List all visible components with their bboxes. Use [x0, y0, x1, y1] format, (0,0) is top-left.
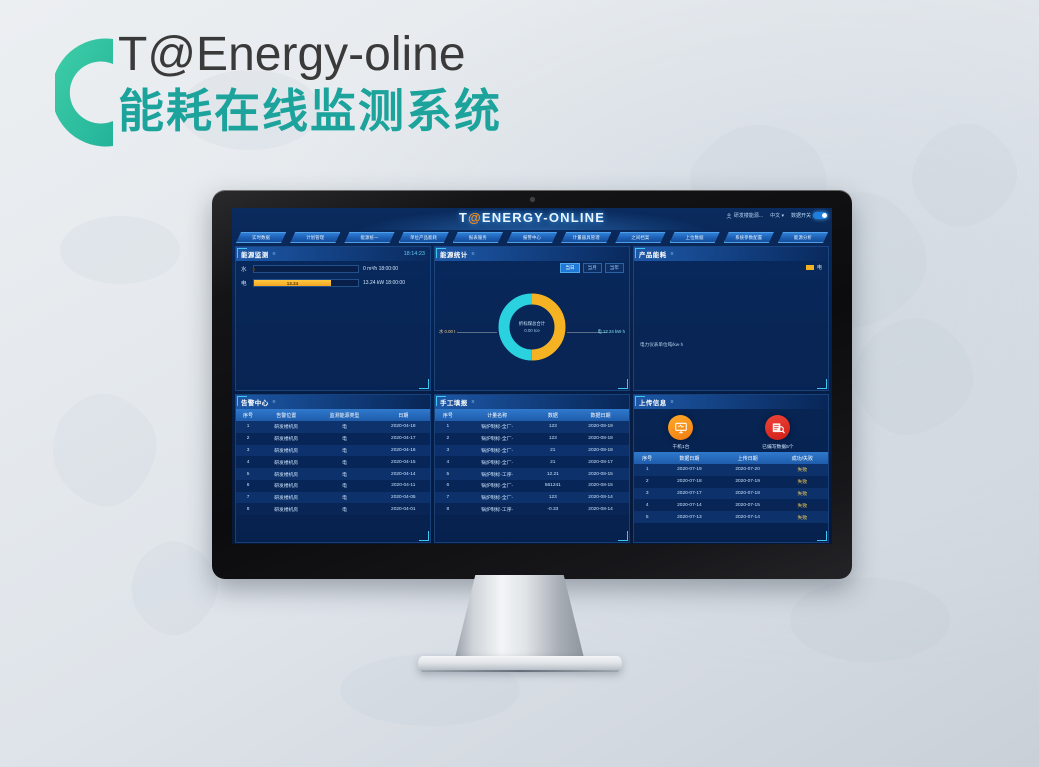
table-row[interactable]: 6锅炉制标-全厂-5612412020-08-15 [435, 480, 629, 492]
table-cell: 8 [236, 503, 260, 515]
table-cell: 研发楼机房 [260, 456, 312, 468]
donut-center-line1: 折标煤总合计 [497, 321, 567, 327]
table-cell: 2020-07-20 [719, 464, 777, 476]
nav-item-5[interactable]: 报警中心 [507, 232, 557, 243]
language-label: 中文 ▾ [770, 212, 784, 219]
app-title-prefix: T [459, 210, 468, 225]
table-cell: 2020-04-05 [377, 492, 430, 504]
panel-title: 手工填报 [440, 397, 468, 407]
monitor: T@ENERGY-ONLINE 研发楼能源... 中文 ▾ 数据开关 [212, 190, 852, 579]
manual-table: 序号计量名称数据数据日期 1锅炉制标-全厂-1232020-08-192锅炉制标… [435, 409, 629, 515]
monitor-stand-base [418, 656, 622, 672]
table-body: 12020-07-192020-07-20失败22020-07-182020-0… [634, 464, 828, 523]
table-body: 1研发楼机房电2020-04-182研发楼机房电2020-04-173研发楼机房… [236, 421, 430, 515]
legend-label-electric: 电 [817, 264, 822, 271]
dashboard-column-center: 能源统计 ≡ 当日 当月 当年 折标煤总合计 [434, 246, 630, 543]
table-row[interactable]: 1研发楼机房电2020-04-18 [236, 421, 430, 433]
data-toggle-group[interactable]: 数据开关 [791, 212, 828, 219]
table-cell: 研发楼机房 [260, 480, 312, 492]
realtime-bar-track: 13.24 [253, 279, 359, 287]
product-legend: 电 [634, 261, 828, 271]
table-cell: 锅炉制标-全厂- [461, 421, 534, 433]
panel-title: 告警中心 [241, 397, 269, 407]
table-row[interactable]: 1锅炉制标-全厂-1232020-08-19 [435, 421, 629, 433]
table-cell: 电 [312, 433, 376, 445]
column-header: 数据 [534, 409, 573, 421]
app-title-at: @ [468, 210, 482, 225]
panel-more-icon[interactable]: ≡ [472, 251, 475, 257]
panel-alarm-center: 告警中心 ≡ 序号告警位置监测能源类型日期 1研发楼机房电2020-04-182… [235, 394, 431, 543]
table-cell: 2020-07-14 [660, 499, 718, 511]
table-cell: 2020-04-14 [377, 468, 430, 480]
panel-more-icon[interactable]: ≡ [472, 399, 475, 405]
table-cell: 研发楼机房 [260, 421, 312, 433]
column-header: 计量名称 [461, 409, 534, 421]
table-cell: 123 [534, 492, 573, 504]
realtime-value-time: 18:00:00 [386, 280, 405, 286]
nav-item-6[interactable]: 计量器具管理 [561, 232, 611, 243]
realtime-label: 电 [241, 279, 249, 287]
table-cell: 21 [534, 445, 573, 457]
language-selector[interactable]: 中文 ▾ [770, 212, 784, 219]
app-title-suffix: ENERGY-ONLINE [482, 210, 605, 225]
realtime-label: 水 [241, 265, 249, 273]
table-cell: 2020-08-14 [572, 503, 629, 515]
table-cell: 电 [312, 503, 376, 515]
realtime-value-number: 13.24 kW [363, 280, 384, 286]
panel-title: 产品能耗 [639, 249, 667, 259]
table-cell: 2020-04-11 [377, 480, 430, 492]
donut-label-water: 水 0.00 t [439, 329, 455, 335]
table-cell: 失败 [777, 488, 828, 500]
panel-header: 告警中心 ≡ [236, 395, 430, 409]
dashboard-column-right: 产品能耗 ≡ 电 电力仪表单位吨/kw·h 上传信息 ≡ [633, 246, 829, 543]
panel-more-icon[interactable]: ≡ [671, 399, 674, 405]
panel-more-icon[interactable]: ≡ [671, 251, 674, 257]
upload-stat-label: 已编写数据5个 [762, 443, 793, 450]
table-cell: 锅炉制标-全厂- [461, 445, 534, 457]
column-header: 序号 [634, 452, 660, 464]
table-cell: 2020-07-13 [660, 511, 718, 523]
donut-leader-left [457, 332, 497, 333]
table-cell: 2020-08-15 [572, 480, 629, 492]
table-cell: 1 [435, 421, 461, 433]
table-header-row: 序号计量名称数据数据日期 [435, 409, 629, 421]
table-cell: 1 [236, 421, 260, 433]
panel-more-icon[interactable]: ≡ [273, 399, 276, 405]
table-cell: 失败 [777, 511, 828, 523]
screen: T@ENERGY-ONLINE 研发楼能源... 中文 ▾ 数据开关 [232, 208, 832, 544]
c-mark-logo [55, 35, 117, 150]
table-cell: 8 [435, 503, 461, 515]
realtime-bar-fill: 13.24 [254, 280, 331, 286]
table-cell: 锅炉制标-全厂- [461, 456, 534, 468]
column-header: 序号 [236, 409, 260, 421]
alarm-table: 序号告警位置监测能源类型日期 1研发楼机房电2020-04-182研发楼机房电2… [236, 409, 430, 515]
donut-label-electric: 电 13.24 kW·h [598, 329, 625, 335]
table-cell: 1 [634, 464, 660, 476]
table-cell: 2020-08-18 [572, 445, 629, 457]
table-body: 1锅炉制标-全厂-1232020-08-192锅炉制标-全厂-1232020-0… [435, 421, 629, 515]
main-nav: 实时数据 计划管理 能源统一 单位产品能耗 报表服务 报警中心 计量器具管理 之… [232, 232, 832, 243]
panel-product-energy: 产品能耗 ≡ 电 电力仪表单位吨/kw·h [633, 246, 829, 391]
table-cell: 7 [236, 492, 260, 504]
realtime-timestamp: 18:14:23 [404, 251, 425, 257]
nav-item-9[interactable]: 系统参数配置 [724, 232, 774, 243]
table-cell: 2020-04-01 [377, 503, 430, 515]
table-row[interactable]: 6研发楼机房电2020-04-11 [236, 480, 430, 492]
monitor-stand-neck [455, 575, 585, 660]
nav-item-8[interactable]: 上位数据 [670, 232, 720, 243]
realtime-row-electric: 电 13.24 13.24 kW 18:00:00 [241, 279, 425, 287]
table-cell: 电 [312, 445, 376, 457]
dashboard-grid: 能源监测 ≡ 18:14:23 水 0 0 m³/h 18:00:0 [232, 243, 832, 544]
table-cell: 2020-07-17 [660, 488, 718, 500]
table-cell: 锅炉制标-全厂- [461, 480, 534, 492]
table-cell: 5 [236, 468, 260, 480]
upload-stat-label: 干机1台 [668, 443, 693, 450]
table-cell: 5 [435, 468, 461, 480]
upload-icon-row: 干机1台 已编写数据5个 [634, 409, 828, 452]
table-cell: 3 [634, 488, 660, 500]
tab-month[interactable]: 当月 [583, 263, 602, 273]
panel-header: 上传信息 ≡ [634, 395, 828, 409]
table-cell: 2020-04-15 [377, 456, 430, 468]
column-header: 数据日期 [572, 409, 629, 421]
panel-header: 能源统计 ≡ [435, 247, 629, 261]
column-header: 日期 [377, 409, 430, 421]
tab-day[interactable]: 当日 [560, 263, 579, 273]
panel-upload-info: 上传信息 ≡ 干机1台 [633, 394, 829, 543]
document-search-icon [765, 415, 790, 440]
table-cell: -0.33 [534, 503, 573, 515]
table-cell: 2020-04-16 [377, 445, 430, 457]
tab-year[interactable]: 当年 [605, 263, 624, 273]
column-header: 监测能源类型 [312, 409, 376, 421]
panel-title: 能源监测 [241, 249, 269, 259]
alarm-table-wrap[interactable]: 序号告警位置监测能源类型日期 1研发楼机房电2020-04-182研发楼机房电2… [236, 409, 430, 533]
table-cell: 2020-08-15 [572, 468, 629, 480]
nav-item-3[interactable]: 单位产品能耗 [399, 232, 449, 243]
table-row[interactable]: 8锅炉制标-工序--0.332020-08-14 [435, 503, 629, 515]
poster-title-cn: 能耗在线监测系统 [118, 81, 502, 141]
table-cell: 电 [312, 492, 376, 504]
table-row[interactable]: 2锅炉制标-全厂-1232020-08-18 [435, 433, 629, 445]
upload-stat-devices[interactable]: 干机1台 [668, 415, 693, 450]
table-cell: 123 [534, 433, 573, 445]
donut-chart-area: 折标煤总合计 0.00 tce 水 0.00 t 电 13.24 kW·h [435, 273, 629, 381]
table-row[interactable]: 7研发楼机房电2020-04-05 [236, 492, 430, 504]
panel-header: 手工填报 ≡ [435, 395, 629, 409]
table-cell: 失败 [777, 499, 828, 511]
toggle-label: 数据开关 [791, 212, 811, 219]
panel-energy-statistics: 能源统计 ≡ 当日 当月 当年 折标煤总合计 [434, 246, 630, 391]
table-cell: 2020-07-14 [719, 511, 777, 523]
table-cell: 2020-08-18 [572, 433, 629, 445]
table-cell: 锅炉制标-全厂- [461, 492, 534, 504]
realtime-value: 13.24 kW 18:00:00 [363, 280, 425, 286]
panel-body: 水 0 0 m³/h 18:00:00 电 [236, 261, 430, 297]
table-cell: 2 [634, 476, 660, 488]
table-row[interactable]: 5锅炉制标-工序-12.212020-08-15 [435, 468, 629, 480]
table-cell: 2020-04-17 [377, 433, 430, 445]
nav-item-7[interactable]: 之间档案 [615, 232, 665, 243]
table-cell: 2020-08-14 [572, 492, 629, 504]
poster-title-en: T@Energy-oline [118, 25, 502, 85]
table-row[interactable]: 32020-07-172020-07-18失败 [634, 488, 828, 500]
data-toggle-switch[interactable] [813, 212, 828, 219]
table-cell: 电 [312, 456, 376, 468]
table-cell: 2020-07-19 [660, 464, 718, 476]
upload-stat-records[interactable]: 已编写数据5个 [762, 415, 793, 450]
panel-header: 能源监测 ≡ 18:14:23 [236, 247, 430, 261]
table-row[interactable]: 22020-07-182020-07-19失败 [634, 476, 828, 488]
table-cell: 2020-04-18 [377, 421, 430, 433]
table-cell: 2020-07-19 [719, 476, 777, 488]
nav-item-1[interactable]: 计划管理 [290, 232, 340, 243]
table-header-row: 序号告警位置监测能源类型日期 [236, 409, 430, 421]
manual-table-wrap[interactable]: 序号计量名称数据数据日期 1锅炉制标-全厂-1232020-08-192锅炉制标… [435, 409, 629, 533]
user-label: 研发楼能源... [734, 212, 763, 219]
user-menu[interactable]: 研发楼能源... [726, 212, 763, 219]
stats-tabs: 当日 当月 当年 [435, 261, 629, 273]
table-cell: 4 [236, 456, 260, 468]
panel-more-icon[interactable]: ≡ [273, 251, 276, 257]
table-cell: 2020-08-17 [572, 456, 629, 468]
table-cell: 锅炉制标-工序- [461, 468, 534, 480]
table-cell: 失败 [777, 464, 828, 476]
product-axis-note: 电力仪表单位吨/kw·h [640, 342, 683, 348]
table-cell: 研发楼机房 [260, 433, 312, 445]
table-cell: 电 [312, 468, 376, 480]
table-cell: 2020-07-15 [719, 499, 777, 511]
webcam-icon [530, 197, 535, 202]
table-row[interactable]: 52020-07-132020-07-14失败 [634, 511, 828, 523]
table-cell: 电 [312, 421, 376, 433]
table-cell: 4 [634, 499, 660, 511]
nav-item-4[interactable]: 报表服务 [453, 232, 503, 243]
donut-center-line2: 0.00 tce [497, 328, 567, 333]
panel-realtime-monitoring: 能源监测 ≡ 18:14:23 水 0 0 m³/h 18:00:0 [235, 246, 431, 391]
table-cell: 2 [236, 433, 260, 445]
table-cell: 电 [312, 480, 376, 492]
table-row[interactable]: 4锅炉制标-全厂-212020-08-17 [435, 456, 629, 468]
realtime-value-time: 18:00:00 [379, 266, 398, 272]
table-cell: 2020-07-18 [719, 488, 777, 500]
legend-swatch-electric [806, 265, 814, 270]
table-cell: 6 [236, 480, 260, 492]
upload-table: 序号数据日期上传日期成功/失败 12020-07-192020-07-20失败2… [634, 452, 828, 523]
header-right: 研发楼能源... 中文 ▾ 数据开关 [726, 212, 828, 219]
realtime-bar-track: 0 [253, 265, 359, 273]
donut-center-text: 折标煤总合计 0.00 tce [497, 321, 567, 333]
table-row[interactable]: 3研发楼机房电2020-04-16 [236, 445, 430, 457]
user-icon [726, 213, 732, 219]
table-cell: 12.21 [534, 468, 573, 480]
app-header: T@ENERGY-ONLINE 研发楼能源... 中文 ▾ 数据开关 [232, 208, 832, 230]
table-cell: 2020-08-19 [572, 421, 629, 433]
table-cell: 3 [435, 445, 461, 457]
panel-title: 上传信息 [639, 397, 667, 407]
nav-item-10[interactable]: 能源分析 [778, 232, 828, 243]
nav-item-2[interactable]: 能源统一 [344, 232, 394, 243]
column-header: 告警位置 [260, 409, 312, 421]
table-cell: 锅炉制标-工序- [461, 503, 534, 515]
table-row[interactable]: 2研发楼机房电2020-04-17 [236, 433, 430, 445]
table-row[interactable]: 7锅炉制标-全厂-1232020-08-14 [435, 492, 629, 504]
table-row[interactable]: 4研发楼机房电2020-04-15 [236, 456, 430, 468]
table-row[interactable]: 12020-07-192020-07-20失败 [634, 464, 828, 476]
table-row[interactable]: 42020-07-142020-07-15失败 [634, 499, 828, 511]
realtime-value-number: 0 m³/h [363, 266, 377, 272]
table-cell: 失败 [777, 476, 828, 488]
table-cell: 6 [435, 480, 461, 492]
table-row[interactable]: 8研发楼机房电2020-04-01 [236, 503, 430, 515]
column-header: 成功/失败 [777, 452, 828, 464]
table-cell: 锅炉制标-全厂- [461, 433, 534, 445]
panel-title: 能源统计 [440, 249, 468, 259]
realtime-row-water: 水 0 0 m³/h 18:00:00 [241, 265, 425, 273]
table-cell: 561241 [534, 480, 573, 492]
table-cell: 3 [236, 445, 260, 457]
table-cell: 7 [435, 492, 461, 504]
nav-item-0[interactable]: 实时数据 [236, 232, 286, 243]
panel-manual-entry: 手工填报 ≡ 序号计量名称数据数据日期 1锅炉制标-全厂-1232020-08-… [434, 394, 630, 543]
table-cell: 4 [435, 456, 461, 468]
table-cell: 研发楼机房 [260, 503, 312, 515]
poster-brand: T@Energy-oline 能耗在线监测系统 [55, 25, 615, 160]
dashboard-column-left: 能源监测 ≡ 18:14:23 水 0 0 m³/h 18:00:0 [235, 246, 431, 543]
table-row[interactable]: 3锅炉制标-全厂-212020-08-18 [435, 445, 629, 457]
upload-table-wrap[interactable]: 序号数据日期上传日期成功/失败 12020-07-192020-07-20失败2… [634, 452, 828, 523]
table-cell: 123 [534, 421, 573, 433]
column-header: 数据日期 [660, 452, 718, 464]
table-cell: 5 [634, 511, 660, 523]
table-cell: 研发楼机房 [260, 445, 312, 457]
column-header: 上传日期 [719, 452, 777, 464]
table-row[interactable]: 5研发楼机房电2020-04-14 [236, 468, 430, 480]
table-cell: 2 [435, 433, 461, 445]
monitor-icon [668, 415, 693, 440]
table-cell: 21 [534, 456, 573, 468]
column-header: 序号 [435, 409, 461, 421]
table-cell: 研发楼机房 [260, 468, 312, 480]
table-header-row: 序号数据日期上传日期成功/失败 [634, 452, 828, 464]
table-cell: 2020-07-18 [660, 476, 718, 488]
table-cell: 研发楼机房 [260, 492, 312, 504]
panel-header: 产品能耗 ≡ [634, 247, 828, 261]
realtime-value: 0 m³/h 18:00:00 [363, 266, 425, 272]
